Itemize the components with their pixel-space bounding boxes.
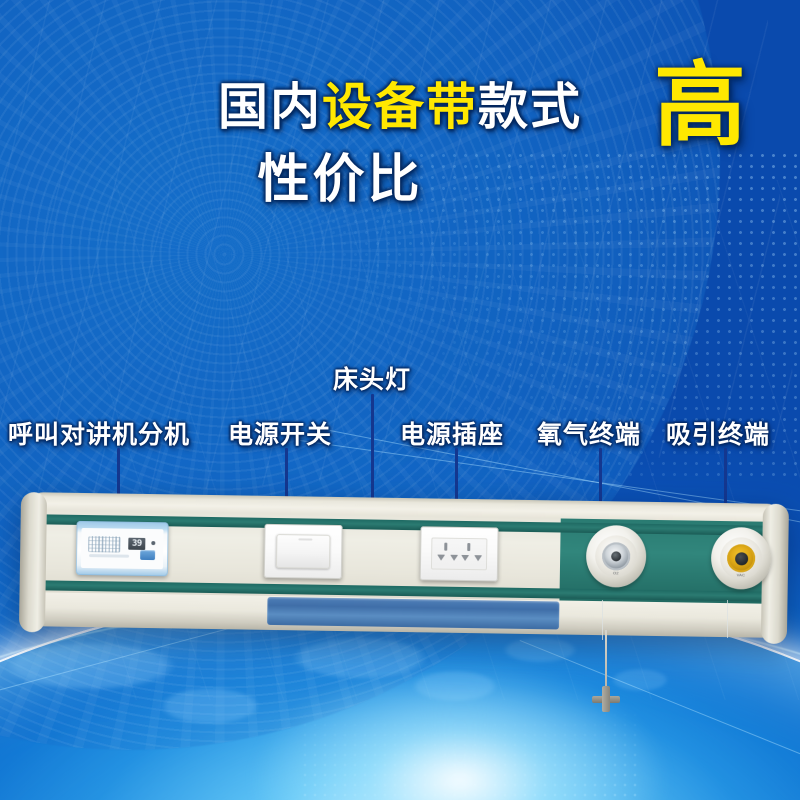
headline-seg-3: 款式 (478, 79, 582, 135)
suction-hose-line (727, 600, 728, 638)
power-switch[interactable] (264, 524, 343, 579)
intercom-mic-slot (89, 554, 129, 558)
panel-body: 39 (19, 492, 789, 644)
callout-label-oxygen: 氧气终端 (537, 415, 641, 451)
suction-port (735, 552, 748, 565)
cord-weight-stem (602, 686, 610, 712)
panel-end-cap-left (19, 492, 47, 632)
socket-prong-1 (437, 555, 445, 561)
speaker-grille-icon (88, 536, 120, 553)
socket-prong-3 (461, 555, 469, 561)
oxygen-terminal[interactable]: O2 (586, 525, 647, 588)
intercom-call-button[interactable] (140, 550, 155, 560)
promo-image: 国内设备带款式 性价比 高 呼叫对讲机分机 电源开关 床头灯 电源插座 氧气终端… (0, 0, 800, 800)
socket-face (431, 537, 487, 570)
callout-label-switch: 电源开关 (228, 415, 332, 451)
socket-slot-left-a (444, 543, 447, 551)
headline-emphasis-word: 高 (654, 60, 746, 152)
pull-cord[interactable] (605, 630, 607, 692)
panel-blue-channel (267, 597, 559, 630)
socket-prong-2 (450, 555, 458, 561)
socket-slot-right-a (467, 543, 470, 551)
bed-head-unit: 39 (20, 492, 788, 642)
switch-rocker[interactable] (276, 534, 331, 569)
headline-seg-2: 设备带 (322, 79, 478, 135)
horizon-center-glow (250, 660, 670, 800)
suction-terminal[interactable]: VAC (711, 527, 772, 590)
callout-label-bedlamp: 床头灯 (333, 360, 411, 396)
pull-cord-weight-icon[interactable] (592, 686, 620, 712)
intercom-face: 39 (81, 528, 164, 569)
nurse-call-intercom[interactable]: 39 (76, 521, 169, 576)
callout-label-suction: 吸引终端 (666, 415, 770, 451)
callout-label-socket: 电源插座 (400, 415, 504, 451)
oxygen-hose-line (602, 600, 603, 640)
intercom-display: 39 (128, 538, 145, 550)
socket-prong-4 (474, 555, 482, 561)
oxygen-port (611, 551, 621, 561)
oxygen-terminal-label: O2 (586, 570, 646, 576)
headline-line-2: 性价比 (0, 154, 800, 206)
headline-seg-1: 国内 (218, 79, 322, 135)
suction-terminal-label: VAC (711, 572, 771, 578)
power-socket[interactable] (420, 526, 499, 581)
callout-label-intercom: 呼叫对讲机分机 (8, 415, 190, 451)
switch-mark-icon (298, 538, 312, 540)
status-led-icon (151, 541, 155, 545)
